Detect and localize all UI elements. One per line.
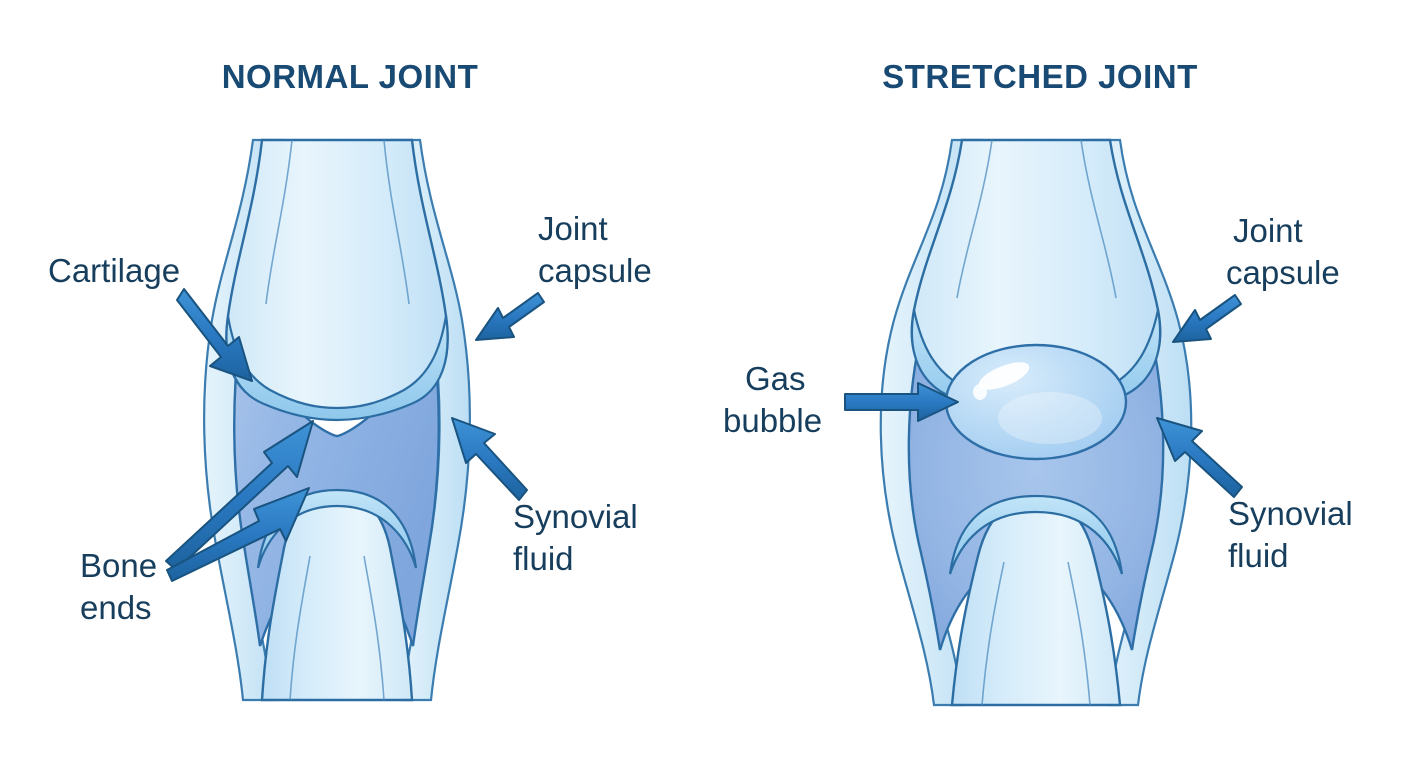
label-group-joint-capsule: Joint capsule	[538, 210, 652, 289]
label-group-bone-ends: Bone ends	[80, 547, 157, 626]
panel-normal-joint: NORMAL JOINT	[48, 58, 652, 700]
label-synovial-fluid-2-line2: fluid	[1228, 537, 1289, 574]
label-gas-bubble-line2: bubble	[723, 402, 822, 439]
label-group-synovial-fluid: Synovial fluid	[513, 498, 638, 577]
label-joint-capsule-2-line2: capsule	[1226, 254, 1340, 291]
joint-comparison-diagram: NORMAL JOINT	[0, 0, 1408, 768]
arrow-joint-capsule-2	[1173, 295, 1241, 342]
arrow-joint-capsule-shape	[476, 293, 544, 340]
gas-bubble-sheen	[998, 392, 1102, 444]
label-joint-capsule-2-line1: Joint	[1233, 212, 1303, 249]
label-group-joint-capsule-2: Joint capsule	[1226, 212, 1340, 291]
upper-bone	[226, 140, 447, 418]
gas-bubble-highlight-small	[973, 384, 987, 400]
label-bone-ends-line2: ends	[80, 589, 152, 626]
arrow-joint-capsule	[476, 293, 544, 340]
label-synovial-fluid-line2: fluid	[513, 540, 574, 577]
label-synovial-fluid-line1: Synovial	[513, 498, 638, 535]
label-group-synovial-fluid-2: Synovial fluid	[1228, 495, 1353, 574]
panel-title-normal: NORMAL JOINT	[222, 58, 479, 95]
panel-stretched-joint: STRETCHED JOINT	[723, 58, 1353, 705]
diagram-canvas: NORMAL JOINT	[0, 0, 1408, 768]
panel-title-stretched: STRETCHED JOINT	[882, 58, 1198, 95]
label-synovial-fluid-2-line1: Synovial	[1228, 495, 1353, 532]
arrow-joint-capsule-2-shape	[1173, 295, 1241, 342]
label-joint-capsule-line1: Joint	[538, 210, 608, 247]
label-group-gas-bubble: Gas bubble	[723, 360, 822, 439]
label-cartilage: Cartilage	[48, 252, 180, 289]
gas-bubble	[946, 345, 1126, 459]
label-gas-bubble-line1: Gas	[745, 360, 806, 397]
label-joint-capsule-line2: capsule	[538, 252, 652, 289]
label-group-cartilage: Cartilage	[48, 252, 180, 289]
label-bone-ends-line1: Bone	[80, 547, 157, 584]
upper-bone-body	[226, 140, 447, 418]
